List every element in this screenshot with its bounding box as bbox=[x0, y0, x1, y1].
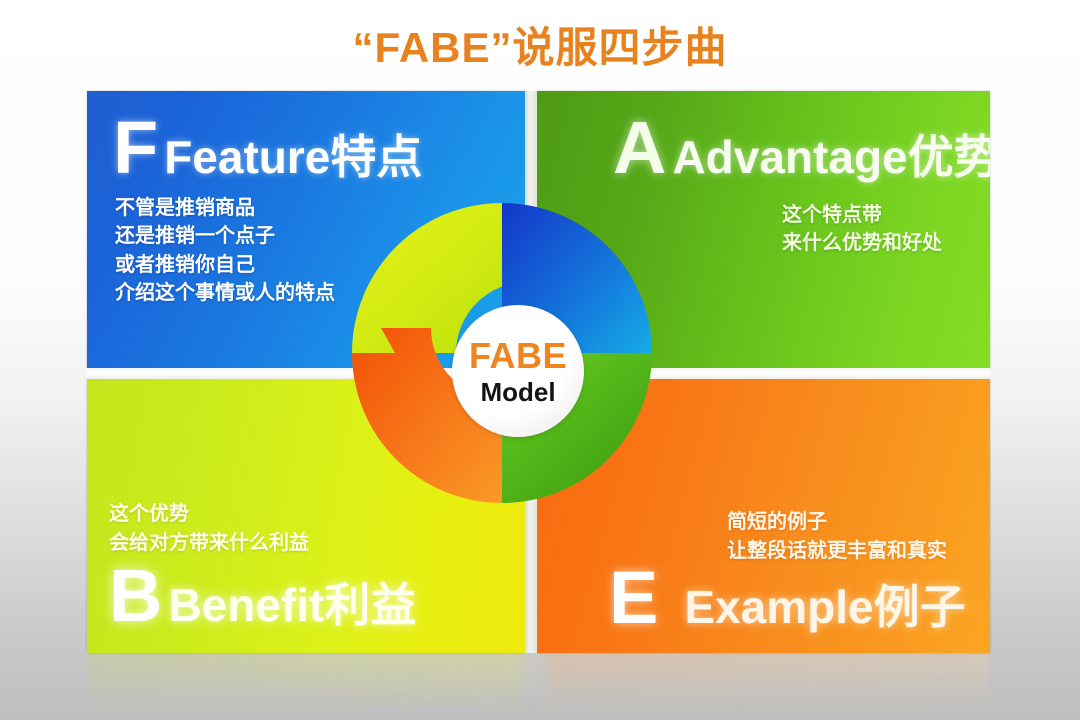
benefit-line-1: 这个优势 bbox=[109, 500, 309, 528]
advantage-line-1: 这个特点带 bbox=[782, 201, 942, 229]
feature-heading: F Feature特点 bbox=[113, 113, 422, 183]
quadrant-benefit[interactable]: 这个优势 会给对方带来什么利益 B Benefit利益 bbox=[87, 379, 525, 653]
example-letter: E bbox=[609, 563, 658, 633]
example-line-2: 让整段话就更丰富和真实 bbox=[727, 537, 947, 565]
board-reflection bbox=[87, 653, 990, 711]
benefit-word: Benefit利益 bbox=[168, 582, 416, 628]
feature-word: Feature特点 bbox=[164, 134, 422, 180]
advantage-word: Advantage优势 bbox=[672, 134, 990, 180]
quadrant-feature[interactable]: F Feature特点 不管是推销商品 还是推销一个点子 或者推销你自己 介绍这… bbox=[87, 91, 525, 368]
benefit-letter: B bbox=[109, 561, 162, 631]
hub-primary-label: FABE bbox=[469, 338, 567, 374]
feature-line-3: 或者推销你自己 bbox=[115, 251, 335, 279]
example-description: 简短的例子 让整段话就更丰富和真实 bbox=[727, 508, 947, 565]
cycle-center-hub: FABE Model bbox=[452, 305, 584, 437]
feature-line-4: 介绍这个事情或人的特点 bbox=[115, 279, 335, 307]
page-title: “FABE”说服四步曲 bbox=[0, 14, 1080, 75]
feature-line-2: 还是推销一个点子 bbox=[115, 222, 335, 250]
example-line-1: 简短的例子 bbox=[727, 508, 947, 536]
feature-description: 不管是推销商品 还是推销一个点子 或者推销你自己 介绍这个事情或人的特点 bbox=[115, 194, 335, 308]
feature-letter: F bbox=[113, 113, 158, 183]
benefit-line-2: 会给对方带来什么利益 bbox=[109, 529, 309, 557]
feature-line-1: 不管是推销商品 bbox=[115, 194, 335, 222]
benefit-heading: B Benefit利益 bbox=[109, 561, 416, 631]
quadrant-advantage[interactable]: A Advantage优势 这个特点带 来什么优势和好处 bbox=[537, 91, 990, 368]
advantage-description: 这个特点带 来什么优势和好处 bbox=[782, 201, 942, 258]
quadrant-example[interactable]: 简短的例子 让整段话就更丰富和真实 E Example例子 bbox=[537, 379, 990, 653]
advantage-line-2: 来什么优势和好处 bbox=[782, 229, 942, 257]
benefit-description: 这个优势 会给对方带来什么利益 bbox=[109, 500, 309, 557]
hub-secondary-label: Model bbox=[480, 379, 555, 405]
advantage-heading: A Advantage优势 bbox=[613, 113, 990, 183]
example-word: Example例子 bbox=[684, 584, 965, 630]
advantage-letter: A bbox=[613, 113, 666, 183]
example-heading: E Example例子 bbox=[609, 563, 966, 633]
